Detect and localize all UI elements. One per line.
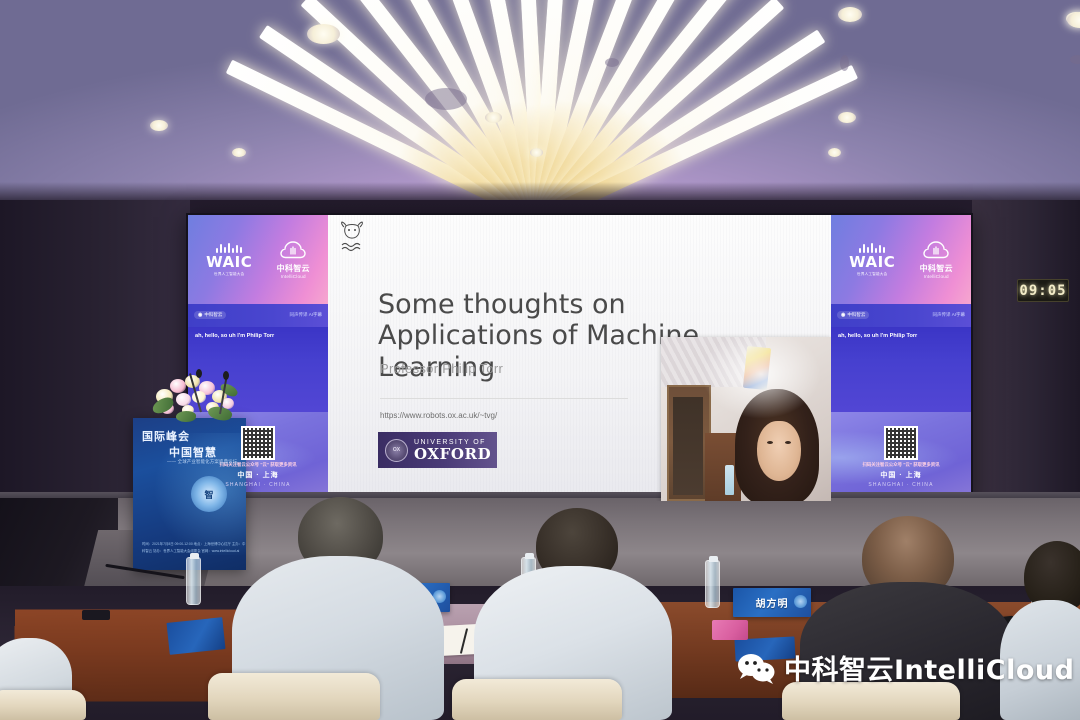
right-banner-logos: WAIC 世界人工智能大会 中科智云 IntelliCloud xyxy=(831,215,971,304)
left-caption-bar: ◉中科智云 同声传译 AI字幕 xyxy=(188,304,328,327)
ceiling-vent xyxy=(840,55,849,71)
cloud-icon xyxy=(923,240,949,259)
waic-dots-icon xyxy=(849,242,895,253)
podium-footer-text: 时间：2021年7月8日 09:00-12:00 地点：上海世博中心红厅 主办：… xyxy=(142,541,246,554)
live-subtitle-text: ah, hello, so uh I'm Philip Torr xyxy=(838,333,964,340)
right-subtitle-area: ah, hello, so uh I'm Philip Torr xyxy=(831,327,971,413)
chair xyxy=(208,673,380,720)
remote-speaker-video-feed xyxy=(661,337,831,501)
ceiling-vent xyxy=(425,88,467,110)
wechat-icon xyxy=(737,652,775,684)
chair xyxy=(0,690,86,720)
oxford-logo-line2: OXFORD xyxy=(414,447,491,462)
qr-caption: 扫码关注智云公众号 “云” 获取更多资讯 xyxy=(862,462,939,468)
qr-code xyxy=(884,426,918,460)
caption-badge: ◉中科智云 xyxy=(194,311,226,319)
recessed-ceiling-light xyxy=(232,148,246,157)
recessed-ceiling-light xyxy=(1067,12,1080,28)
caption-badge-label: 中科智云 xyxy=(204,312,222,318)
left-banner-logos: WAIC 世界人工智能大会 中科智云 IntelliCloud xyxy=(188,215,328,304)
waic-subtitle: 世界人工智能大会 xyxy=(849,272,895,277)
recessed-ceiling-light xyxy=(838,112,856,123)
location-en: SHANGHAI · CHINA xyxy=(225,482,290,488)
caption-bar-right: 同声传译 AI字幕 xyxy=(289,312,322,318)
podium-emblem-text: 智 xyxy=(204,488,213,501)
ceiling xyxy=(0,0,1080,212)
program-booklet xyxy=(166,617,225,655)
chair xyxy=(452,679,622,720)
caption-badge-label: 中科智云 xyxy=(847,312,865,318)
qr-code xyxy=(241,426,275,460)
wall-clock: 09:05 xyxy=(1017,279,1069,302)
location-en: SHANGHAI · CHINA xyxy=(868,482,933,488)
leaf xyxy=(176,410,197,422)
caption-bar-right: 同声传译 AI字幕 xyxy=(932,312,965,318)
ox-head-icon xyxy=(338,221,366,255)
gift-item xyxy=(712,620,748,640)
caption-badge: ◉中科智云 xyxy=(837,311,869,319)
water-bottle xyxy=(705,560,720,608)
microphone-head-icon xyxy=(223,371,229,380)
watermark-text: 中科智云IntelliCloud xyxy=(784,648,1074,687)
microphone-head-icon xyxy=(196,369,202,378)
intellicloud-cn: 中科智云 xyxy=(920,265,953,274)
waic-logo: WAIC 世界人工智能大会 xyxy=(206,242,252,277)
led-presentation-screen: WAIC 世界人工智能大会 中科智云 IntelliCloud ◉中科智云 同声… xyxy=(186,213,973,503)
cloud-icon xyxy=(280,240,306,259)
recessed-ceiling-light xyxy=(838,7,862,22)
waic-dots-icon xyxy=(206,242,252,253)
recessed-ceiling-light xyxy=(485,112,502,123)
water-bottle xyxy=(186,557,201,605)
flower xyxy=(170,379,186,393)
wall-clock-time: 09:05 xyxy=(1019,283,1066,299)
recessed-ceiling-light xyxy=(307,24,340,44)
podium-banner: 国际峰会 中国智慧 —— 全球产业智能化方案盛典论坛 智 时间：2021年7月8… xyxy=(133,418,246,570)
oxford-seal-icon: OX xyxy=(385,439,408,462)
slide-presenter: Professor Philip Torr xyxy=(380,361,503,376)
podium-title-line2: 中国智慧 xyxy=(169,444,217,460)
waic-logo: WAIC 世界人工智能大会 xyxy=(849,242,895,277)
ceiling-vent xyxy=(605,58,619,67)
intellicloud-en: IntelliCloud xyxy=(920,274,953,279)
cable-connector xyxy=(82,610,110,620)
slide-divider xyxy=(380,398,628,399)
recessed-ceiling-light xyxy=(150,120,168,131)
intellicloud-logo: 中科智云 IntelliCloud xyxy=(277,240,310,279)
nameplate-right: 胡方明 xyxy=(733,588,811,617)
waic-wordmark: WAIC xyxy=(206,255,252,270)
recessed-ceiling-light xyxy=(828,148,841,157)
ceiling-vent xyxy=(1070,55,1080,64)
right-banner-footer: 扫码关注智云公众号 “云” 获取更多资讯 中国 · 上海 SHANGHAI · … xyxy=(831,412,971,501)
waic-wordmark: WAIC xyxy=(849,255,895,270)
presentation-slide: Some thoughts on Applications of Machine… xyxy=(328,215,831,501)
chair xyxy=(782,682,960,720)
live-subtitle-text: ah, hello, so uh I'm Philip Torr xyxy=(195,333,321,340)
location-cn: 中国 · 上海 xyxy=(880,470,921,480)
recessed-ceiling-light xyxy=(530,148,543,157)
slide-url: https://www.robots.ox.ac.uk/~tvg/ xyxy=(380,411,497,420)
oxford-university-logo: OX UNIVERSITY OF OXFORD xyxy=(378,432,497,468)
intellicloud-en: IntelliCloud xyxy=(277,274,310,279)
right-caption-bar: ◉中科智云 同声传译 AI字幕 xyxy=(831,304,971,327)
nameplate-right-text: 胡方明 xyxy=(756,595,789,610)
screen-right-banner: WAIC 世界人工智能大会 中科智云 IntelliCloud ◉中科智云 同声… xyxy=(831,215,971,501)
podium-emblem-icon: 智 xyxy=(191,476,227,512)
intellicloud-logo: 中科智云 IntelliCloud xyxy=(920,240,953,279)
waic-subtitle: 世界人工智能大会 xyxy=(206,272,252,277)
watermark: 中科智云IntelliCloud xyxy=(737,648,1074,687)
oxford-seal-text: OX xyxy=(393,447,400,453)
location-cn: 中国 · 上海 xyxy=(237,470,278,480)
intellicloud-cn: 中科智云 xyxy=(277,265,310,274)
podium-subtitle: —— 全球产业智能化方案盛典论坛 xyxy=(167,459,237,465)
podium-title-line1: 国际峰会 xyxy=(142,428,190,444)
